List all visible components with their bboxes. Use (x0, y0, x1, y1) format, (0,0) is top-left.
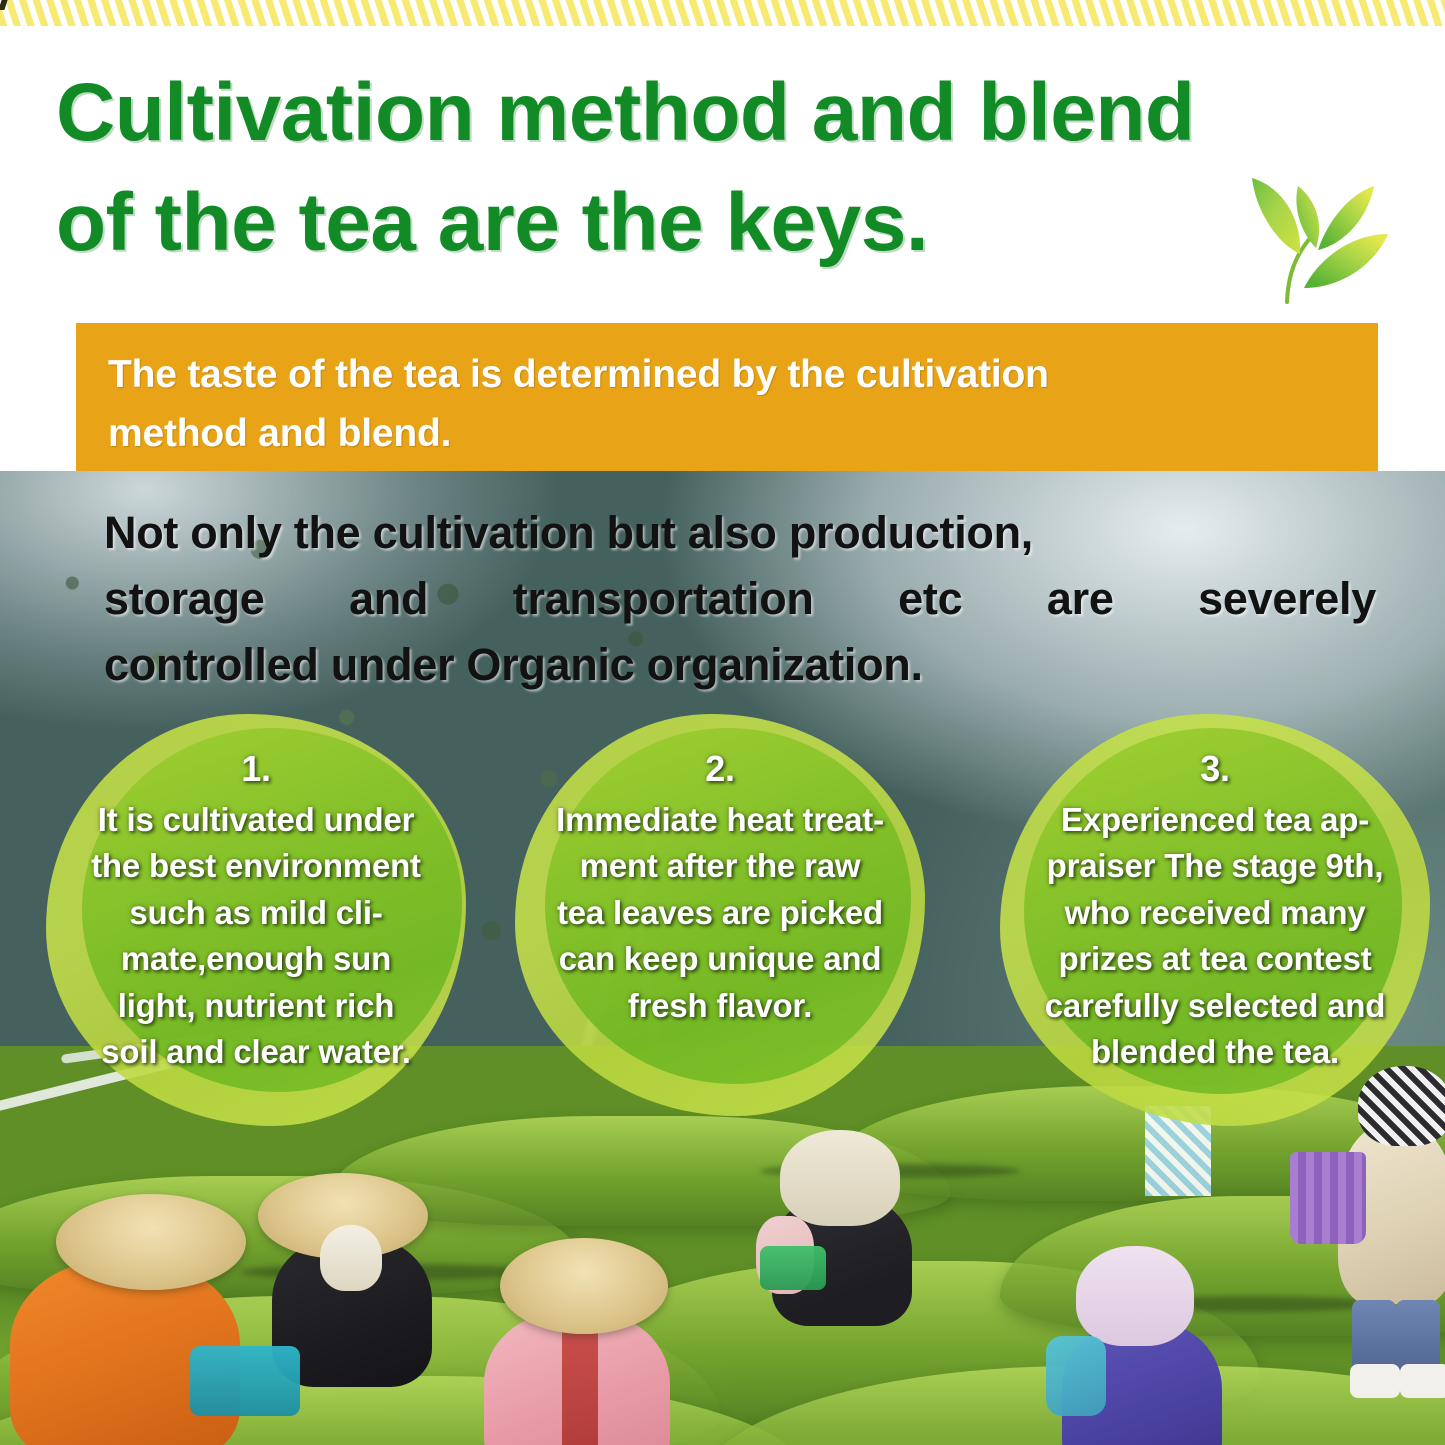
feature-circle-2: 2. Immediate heat treat- ment after the … (515, 714, 925, 1120)
feature-line: mate,enough sun (54, 936, 458, 983)
feature-line: such as mild cli- (54, 890, 458, 937)
body-word: and (349, 566, 428, 632)
body-paragraph-line-2: storage and transportation etc are sever… (104, 566, 1376, 632)
feature-line: It is cultivated under (54, 797, 458, 844)
highlight-banner-line-2: method and blend. (108, 404, 1348, 463)
harvest-basket (1290, 1152, 1366, 1244)
tea-picker-scarf (750, 1116, 940, 1346)
tea-picker-purple (1040, 1226, 1240, 1445)
body-paragraph-line-3: controlled under Organic organization. (104, 632, 1384, 698)
feature-line: praiser The stage 9th, (1006, 843, 1424, 890)
feature-circle-3: 3. Experienced tea ap- praiser The stage… (1000, 714, 1430, 1130)
harvest-basket (190, 1346, 300, 1416)
feature-line: fresh flavor. (519, 983, 921, 1030)
feature-line: ment after the raw (519, 843, 921, 890)
feature-circle-3-text: 3. Experienced tea ap- praiser The stage… (1006, 744, 1424, 1076)
page-title-line-1: Cultivation method and blend (56, 58, 1256, 168)
feature-line: blended the tea. (1006, 1029, 1424, 1076)
tea-picker-pink (470, 1216, 690, 1445)
feature-line: prizes at tea contest (1006, 936, 1424, 983)
body-word: are (1047, 566, 1114, 632)
body-word: severely (1198, 566, 1376, 632)
feature-circle-2-text: 2. Immediate heat treat- ment after the … (519, 744, 921, 1029)
feature-line: the best environment (54, 843, 458, 890)
feature-circle-3-number: 3. (1006, 744, 1424, 795)
body-word: storage (104, 566, 264, 632)
feature-circle-1-text: 1. It is cultivated under the best envir… (54, 744, 458, 1076)
top-stripe-band (0, 0, 1445, 26)
feature-circle-2-number: 2. (519, 744, 921, 795)
feature-line: light, nutrient rich (54, 983, 458, 1030)
page-title-line-2: of the tea are the keys. (56, 168, 1256, 278)
feature-line: tea leaves are picked (519, 890, 921, 937)
highlight-banner: The taste of the tea is determined by th… (76, 323, 1378, 471)
body-word: etc (898, 566, 962, 632)
feature-line: carefully selected and (1006, 983, 1424, 1030)
feature-circle-1-number: 1. (54, 744, 458, 795)
highlight-banner-line-1: The taste of the tea is determined by th… (108, 345, 1348, 404)
tea-poster: Cultivation method and blend of the tea … (0, 0, 1445, 1445)
body-paragraph: Not only the cultivation but also produc… (104, 500, 1384, 698)
feature-line: soil and clear water. (54, 1029, 458, 1076)
page-title: Cultivation method and blend of the tea … (56, 58, 1256, 278)
feature-line: can keep unique and (519, 936, 921, 983)
feature-line: Immediate heat treat- (519, 797, 921, 844)
feature-circle-1: 1. It is cultivated under the best envir… (46, 714, 466, 1130)
tea-leaf-icon (1240, 162, 1405, 317)
body-word: transportation (513, 566, 814, 632)
body-paragraph-line-1: Not only the cultivation but also produc… (104, 500, 1384, 566)
harvest-basket (760, 1246, 826, 1290)
feature-line: Experienced tea ap- (1006, 797, 1424, 844)
feature-line: who received many (1006, 890, 1424, 937)
